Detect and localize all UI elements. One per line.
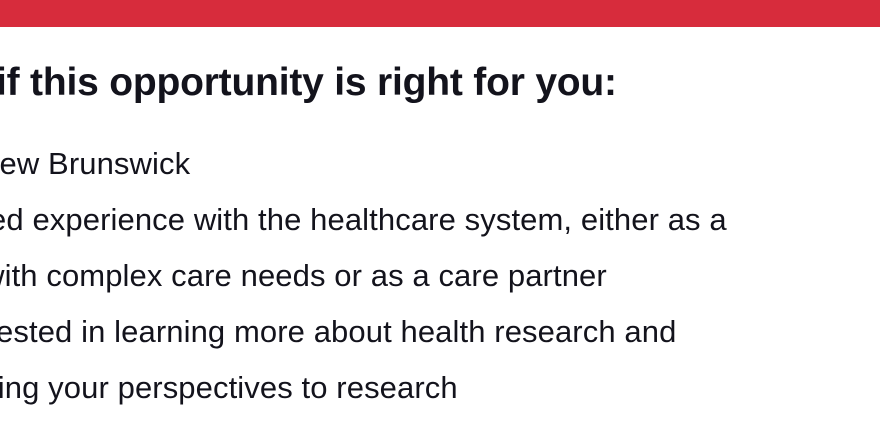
body-line-1: Live in New Brunswick	[0, 144, 190, 184]
document-page: Apply if this opportunity is right for y…	[0, 0, 880, 440]
document-content: Apply if this opportunity is right for y…	[0, 27, 880, 440]
body-line-4: Are interested in learning more about he…	[0, 312, 676, 352]
page-title: Apply if this opportunity is right for y…	[0, 58, 617, 108]
body-line-2: Have lived experience with the healthcar…	[0, 200, 727, 240]
top-red-banner	[0, 0, 880, 27]
body-line-5: contributing your perspectives to resear…	[0, 368, 458, 408]
body-line-3: person with complex care needs or as a c…	[0, 256, 607, 296]
